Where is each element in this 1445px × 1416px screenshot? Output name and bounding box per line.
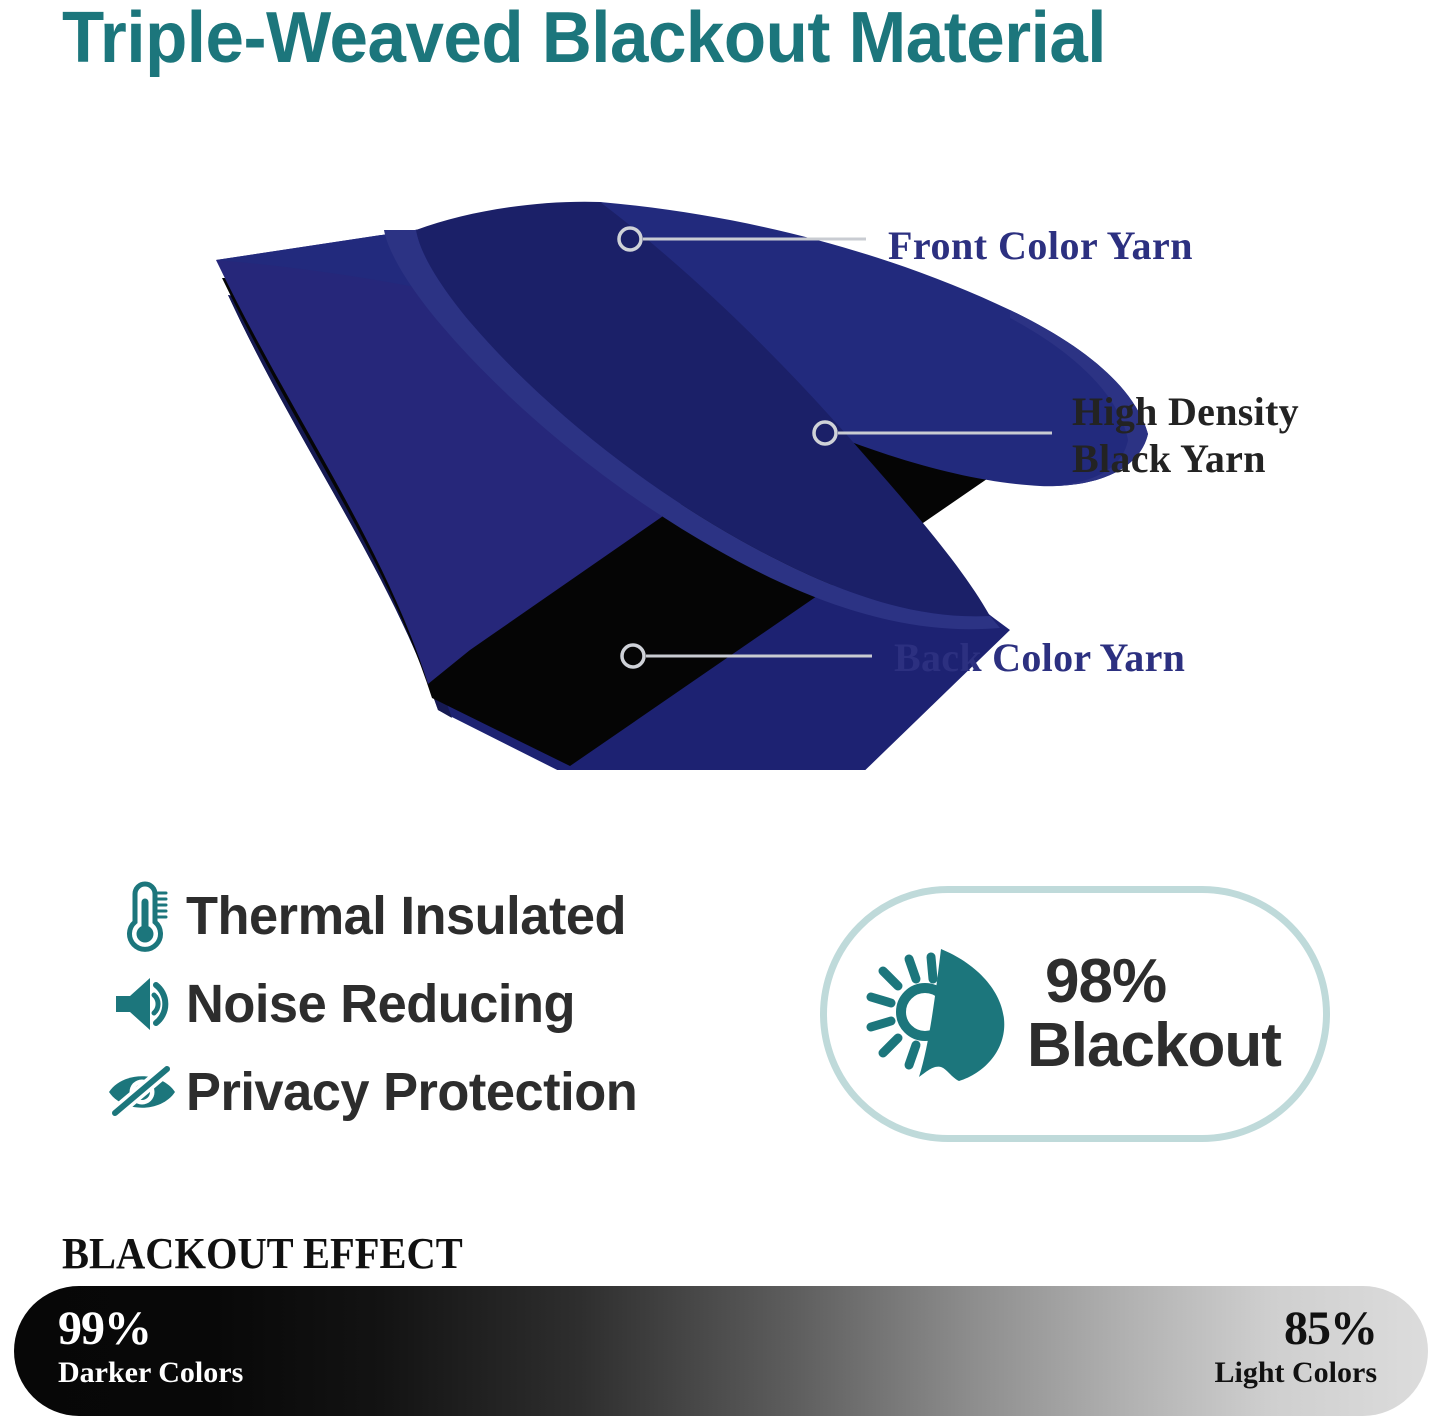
callout-label-high-density-black-yarn: High Density Black Yarn [1072,388,1299,482]
blackout-effect-right-stat: 85% Light Colors [1214,1303,1377,1391]
blackout-effect-left-percent: 99% [58,1303,243,1355]
feature-item-privacy-protection: Privacy Protection [100,1048,760,1136]
blackout-word: Blackout [1027,1014,1281,1078]
feature-label-privacy-protection: Privacy Protection [186,1061,637,1123]
eye-slash-icon [100,1063,186,1121]
blackout-effect-title: BLACKOUT EFFECT [62,1228,463,1279]
page-title: Triple-Weaved Blackout Material [62,0,1348,78]
feature-label-thermal-insulated: Thermal Insulated [186,885,626,947]
blackout-effect-left-stat: 99% Darker Colors [58,1303,243,1391]
blackout-effect-right-caption: Light Colors [1214,1355,1377,1391]
feature-item-thermal-insulated: Thermal Insulated [100,872,760,960]
callout-label-front-color-yarn: Front Color Yarn [888,222,1193,269]
thermometer-icon [100,880,186,952]
callout-label-back-color-yarn: Back Color Yarn [894,634,1185,681]
blackout-effect-right-percent: 85% [1214,1303,1377,1355]
feature-label-noise-reducing: Noise Reducing [186,973,575,1035]
feature-item-noise-reducing: Noise Reducing [100,960,760,1048]
sun-blocked-curtain-icon [827,941,1027,1087]
feature-list: Thermal Insulated Noise Reducing [100,872,760,1136]
callout-label-line2: Black Yarn [1072,435,1299,482]
blackout-percent: 98% [1027,950,1281,1014]
callout-label-line1: High Density [1072,388,1299,435]
speaker-sound-icon [100,973,186,1035]
blackout-effect-left-caption: Darker Colors [58,1355,243,1391]
blackout-badge: 98% Blackout [820,886,1330,1142]
blackout-badge-text: 98% Blackout [1027,950,1281,1078]
